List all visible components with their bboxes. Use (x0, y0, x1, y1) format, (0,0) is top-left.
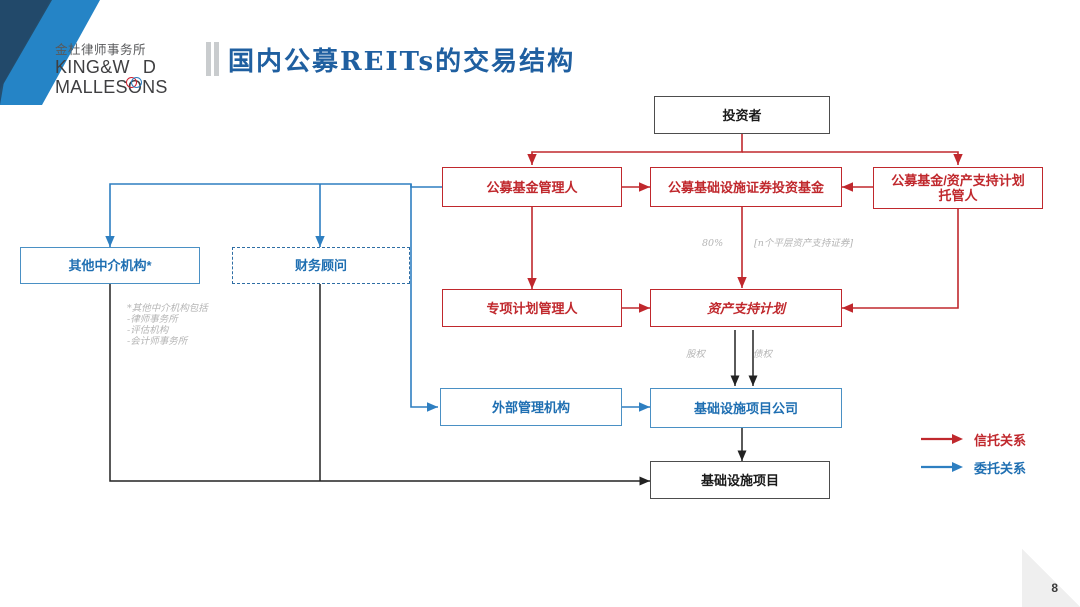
arrow-right-icon (920, 433, 964, 445)
annotation-equity: 股权 (686, 349, 705, 360)
annotation-80-percent: 80% (702, 238, 723, 249)
annotation-n-tranches: [n个平层资产支持证券] (754, 238, 853, 249)
node-fund-manager[interactable]: 公募基金管理人 (442, 167, 622, 207)
page-number: 8 (1051, 581, 1058, 595)
legend-item-mandate: 委托关系 (920, 453, 1070, 481)
node-public-reit-fund[interactable]: 公募基础设施证券投资基金 (650, 167, 842, 207)
diagram-canvas: 80% [n个平层资产支持证券] 股权 债权 *其他中介机构包括 -律师事务所 … (0, 0, 1080, 607)
node-custodian[interactable]: 公募基金/资产支持计划 托管人 (873, 167, 1043, 209)
node-other-intermediaries[interactable]: 其他中介机构* (20, 247, 200, 284)
node-project-company[interactable]: 基础设施项目公司 (650, 388, 842, 428)
footnote-other-intermediaries: *其他中介机构包括 -律师事务所 -评估机构 -会计师事务所 (127, 303, 208, 347)
node-external-manager[interactable]: 外部管理机构 (440, 388, 622, 426)
arrow-right-icon (920, 461, 964, 473)
legend-label-trust: 信托关系 (974, 430, 1026, 449)
node-investors[interactable]: 投资者 (654, 96, 830, 134)
annotation-debt: 债权 (753, 349, 772, 360)
node-custodian-line1: 公募基金/资产支持计划 (891, 173, 1025, 188)
legend-label-mandate: 委托关系 (974, 458, 1026, 477)
node-custodian-line2: 托管人 (938, 188, 977, 203)
page-corner-fold (1022, 549, 1080, 607)
node-special-plan-manager[interactable]: 专项计划管理人 (442, 289, 622, 327)
node-infrastructure-project[interactable]: 基础设施项目 (650, 461, 830, 499)
node-financial-advisor[interactable]: 财务顾问 (232, 247, 410, 284)
legend-item-trust: 信托关系 (920, 425, 1070, 453)
node-abs-plan[interactable]: 资产支持计划 (650, 289, 842, 327)
legend: 信托关系 委托关系 (920, 425, 1070, 481)
